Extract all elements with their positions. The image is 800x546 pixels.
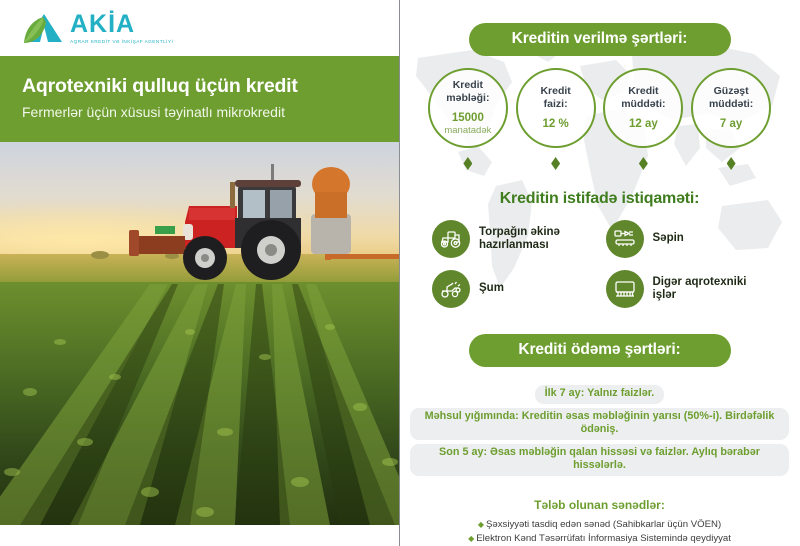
document-text: Şəxsiyyəti tasdiq edən sənəd (Sahibkarla…: [486, 519, 721, 530]
page-title: Aqrotexniki qulluq üçün kredit: [22, 74, 377, 98]
document-text: Elektron Kənd Təsərrüfatı İnformasiya Si…: [476, 533, 731, 544]
condition-circle: Kredit faizi: 12 %: [516, 68, 596, 148]
condition-circle: Kredit müddəti: 12 ay: [603, 68, 683, 148]
required-documents-section: Tələb olunan sənədlər: ◆Şəxsiyyəti tasdi…: [410, 498, 789, 546]
seeder-icon: [606, 220, 644, 258]
credit-conditions-header: Kreditin verilmə şərtləri:: [469, 23, 731, 56]
repayment-line-text: İlk 7 ay: Yalnız faizlər.: [535, 385, 665, 404]
condition-value: 12 %: [543, 118, 569, 131]
condition-value: 7 ay: [720, 118, 742, 131]
repayment-line: İlk 7 ay: Yalnız faizlər.: [410, 383, 789, 404]
plough-icon: [432, 270, 470, 308]
condition-item-rate: Kredit faizi: 12 %: [512, 68, 600, 170]
repayment-line: Məhsul yığımında: Kreditin əsas məbləğin…: [410, 408, 789, 440]
usage-items-grid: Torpağın əkinə hazırlanması Səpin: [432, 220, 771, 308]
right-panel: Kreditin verilmə şərtləri: Kredit məbləğ…: [400, 0, 799, 546]
document-list-item: ◆Şəxsiyyəti tasdiq edən sənəd (Sahibkarl…: [410, 518, 789, 533]
repayment-line-text: Son 5 ay: Əsas məbləğin qalan hissəsi və…: [410, 444, 789, 476]
condition-label: Güzəşt müddəti:: [709, 85, 753, 111]
document-list-item: ◆Elektron Kənd Təsərrüfatı İnformasiya S…: [410, 532, 789, 546]
usage-item-land-preparation: Torpağın əkinə hazırlanması: [432, 220, 598, 258]
usage-item-label: Digər aqrotexniki işlər: [653, 276, 772, 303]
repayment-line: Son 5 ay: Əsas məbləğin qalan hissəsi və…: [410, 444, 789, 476]
condition-item-term: Kredit müddəti: 12 ay: [600, 68, 688, 170]
product-title-band: Aqrotexniki qulluq üçün kredit Fermerlər…: [0, 56, 399, 142]
left-panel: AKİA AQRAR KREDİT VƏ İNKİŞAF AGENTLİYİ A…: [0, 0, 400, 546]
condition-circle: Güzəşt müddəti: 7 ay: [691, 68, 771, 148]
condition-label: Kredit faizi:: [540, 85, 570, 111]
logo-wordmark: AKİA: [70, 11, 171, 37]
logo-subtitle: AQRAR KREDİT VƏ İNKİŞAF AGENTLİYİ: [70, 39, 173, 44]
logo-bar: AKİA AQRAR KREDİT VƏ İNKİŞAF AGENTLİYİ: [0, 0, 399, 56]
diamond-icon: [551, 157, 560, 170]
diamond-icon: [463, 157, 472, 170]
condition-circle: Kredit məbləği: 15000 manatadək: [428, 68, 508, 148]
akia-logo: AKİA AQRAR KREDİT VƏ İNKİŞAF AGENTLİYİ: [22, 11, 171, 46]
credit-product-infographic: AKİA AQRAR KREDİT VƏ İNKİŞAF AGENTLİYİ A…: [0, 0, 800, 546]
usage-item-other-works: Digər aqrotexniki işlər: [606, 270, 772, 308]
condition-value: 12 ay: [629, 118, 658, 131]
condition-item-grace: Güzəşt müddəti: 7 ay: [687, 68, 775, 170]
condition-label: Kredit müddəti:: [621, 85, 665, 111]
usage-section-title: Kreditin istifadə istiqaməti:: [410, 190, 789, 208]
page-subtitle: Fermerlər üçün xüsusi təyinatlı mikrokre…: [22, 102, 377, 122]
tractor-in-field-photo: [0, 142, 400, 525]
condition-item-amount: Kredit məbləği: 15000 manatadək: [424, 68, 512, 170]
diamond-bullet-icon: ◆: [478, 520, 484, 529]
usage-item-label: Torpağın əkinə hazırlanması: [479, 226, 598, 253]
leaf-logo-icon: [22, 12, 66, 46]
diamond-bullet-icon: ◆: [468, 534, 474, 543]
diamond-icon: [639, 157, 648, 170]
repayment-line-text: Məhsul yığımında: Kreditin əsas məbləğin…: [410, 408, 789, 440]
repayment-lines: İlk 7 ay: Yalnız faizlər. Məhsul yığımın…: [410, 383, 789, 476]
harvester-icon: [606, 270, 644, 308]
usage-item-sowing: Səpin: [606, 220, 772, 258]
condition-value-sub: manatadək: [444, 125, 491, 137]
repayment-header: Krediti ödəmə şərtləri:: [469, 334, 731, 367]
tractor-icon: [432, 220, 470, 258]
documents-title: Tələb olunan sənədlər:: [410, 498, 789, 512]
condition-label: Kredit məbləği:: [446, 79, 489, 105]
condition-value: 15000: [452, 112, 484, 125]
credit-conditions-circles: Kredit məbləği: 15000 manatadək Kredit f…: [424, 68, 775, 170]
usage-item-label: Səpin: [653, 232, 684, 246]
usage-item-plough: Şum: [432, 270, 598, 308]
usage-item-label: Şum: [479, 282, 504, 296]
diamond-icon: [727, 157, 736, 170]
